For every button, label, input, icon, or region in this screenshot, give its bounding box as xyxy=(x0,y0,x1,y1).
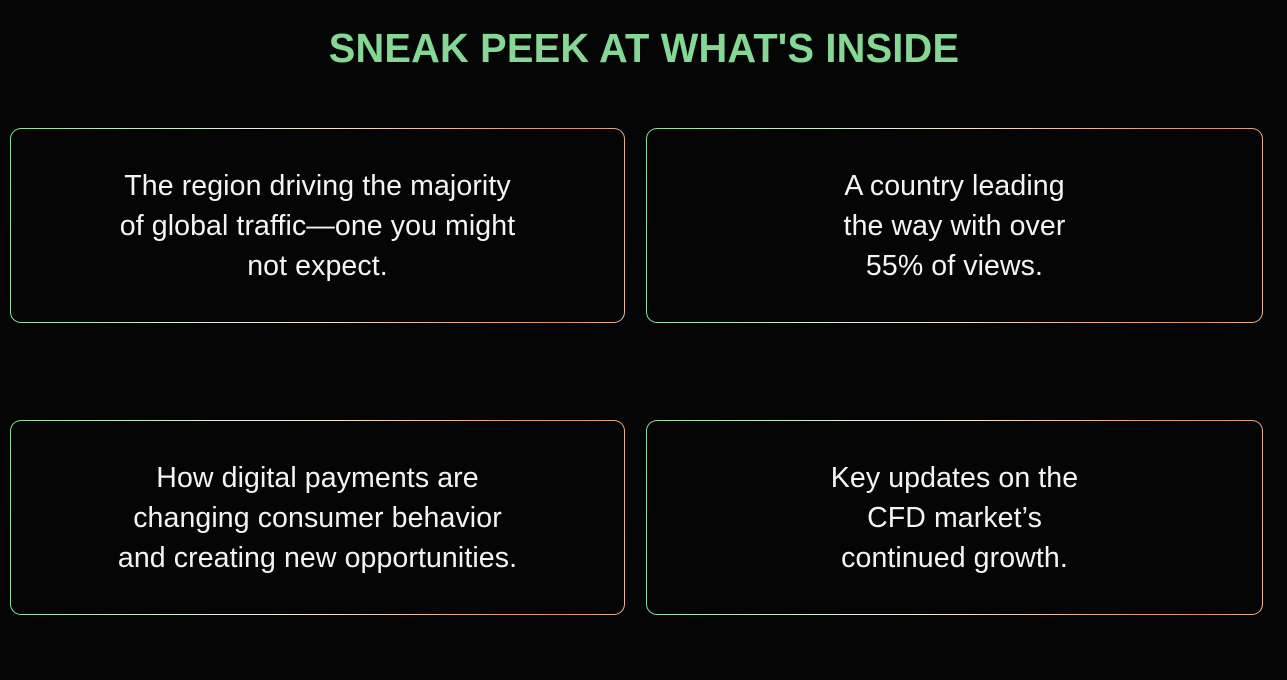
card-text: A country leading the way with over 55% … xyxy=(844,166,1066,286)
heading-container: SNEAK PEEK AT WHAT'S INSIDE xyxy=(0,0,1287,71)
card-body: How digital payments are changing consum… xyxy=(11,421,624,614)
card-text: How digital payments are changing consum… xyxy=(118,458,517,578)
card-text: The region driving the majority of globa… xyxy=(120,166,515,286)
sneak-peek-slide: SNEAK PEEK AT WHAT'S INSIDE The region d… xyxy=(0,0,1287,680)
highlight-card-region-traffic[interactable]: The region driving the majority of globa… xyxy=(10,128,625,323)
card-body: A country leading the way with over 55% … xyxy=(647,129,1262,322)
highlight-card-grid: The region driving the majority of globa… xyxy=(10,128,1263,615)
card-body: The region driving the majority of globa… xyxy=(11,129,624,322)
highlight-card-digital-payments[interactable]: How digital payments are changing consum… xyxy=(10,420,625,615)
card-text: Key updates on the CFD market’s continue… xyxy=(831,458,1078,578)
card-body: Key updates on the CFD market’s continue… xyxy=(647,421,1262,614)
highlight-card-country-views[interactable]: A country leading the way with over 55% … xyxy=(646,128,1263,323)
page-title: SNEAK PEEK AT WHAT'S INSIDE xyxy=(328,26,958,71)
highlight-card-cfd-market[interactable]: Key updates on the CFD market’s continue… xyxy=(646,420,1263,615)
